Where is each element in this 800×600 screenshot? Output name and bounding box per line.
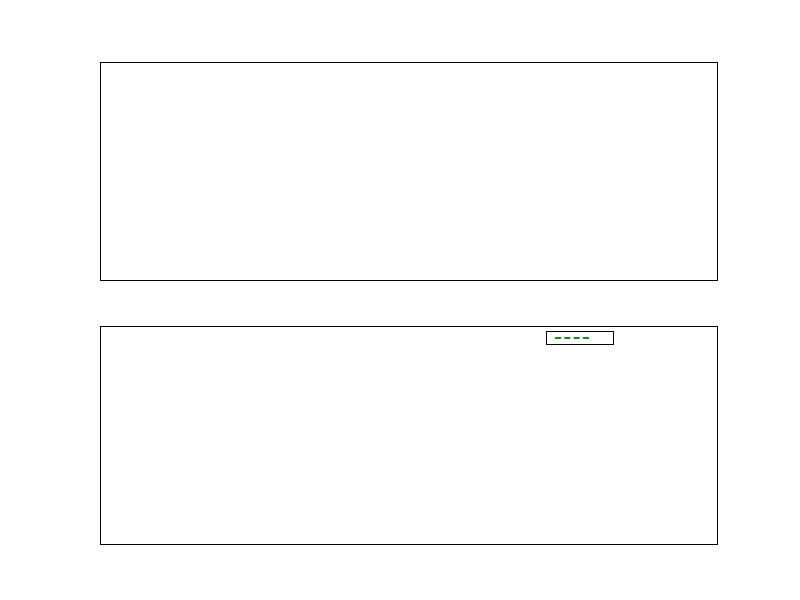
top-histogram-axes (100, 62, 718, 281)
mag-limit-legend-swatch (555, 337, 589, 339)
bottom-cumulative-axes (100, 326, 718, 545)
cumulative-plot-area (101, 327, 717, 544)
figure-canvas (0, 0, 800, 600)
legend-box[interactable] (546, 331, 614, 345)
